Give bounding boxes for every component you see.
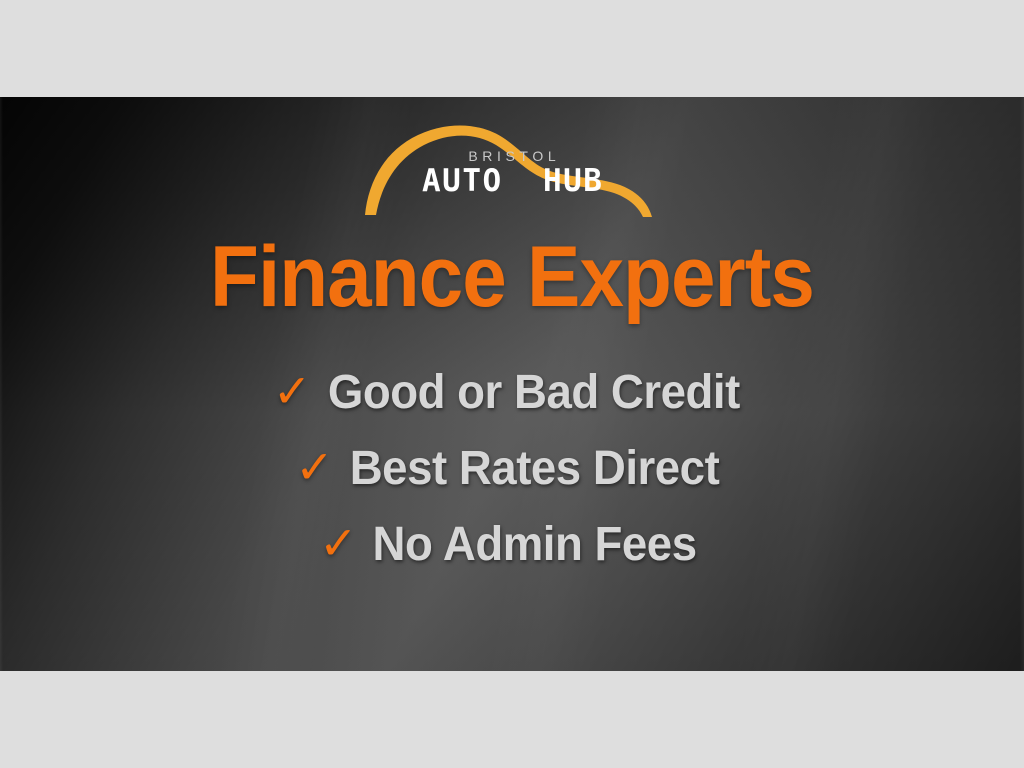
letterbox-top-bar [0,0,1024,97]
brand-logo: BRISTOL AUTO HUB [362,111,662,219]
letterbox-bottom-bar [0,671,1024,768]
benefit-list: ✓ Good or Bad Credit ✓ Best Rates Direct… [0,355,1024,583]
advert-content: BRISTOL AUTO HUB Finance Experts ✓ Good … [0,97,1024,671]
benefit-label: Good or Bad Credit [328,369,740,417]
benefit-item-no-admin-fees: ✓ No Admin Fees [0,507,1024,583]
benefit-item-best-rates-direct: ✓ Best Rates Direct [0,431,1024,507]
advert-banner: BRISTOL AUTO HUB Finance Experts ✓ Good … [0,97,1024,671]
checkmark-icon: ✓ [319,520,358,566]
benefit-label: No Admin Fees [372,521,696,569]
brand-logo-text: BRISTOL AUTO HUB [362,149,662,197]
checkmark-icon: ✓ [273,368,312,414]
benefit-label: Best Rates Direct [349,445,719,493]
brand-name-bristol: BRISTOL [362,149,662,163]
benefit-item-good-or-bad-credit: ✓ Good or Bad Credit [0,355,1024,431]
checkmark-icon: ✓ [295,444,334,490]
brand-name-auto-hub: AUTO HUB [362,166,662,197]
headline-finance-experts: Finance Experts [36,234,988,320]
screenshot-page: BRISTOL AUTO HUB Finance Experts ✓ Good … [0,0,1024,768]
